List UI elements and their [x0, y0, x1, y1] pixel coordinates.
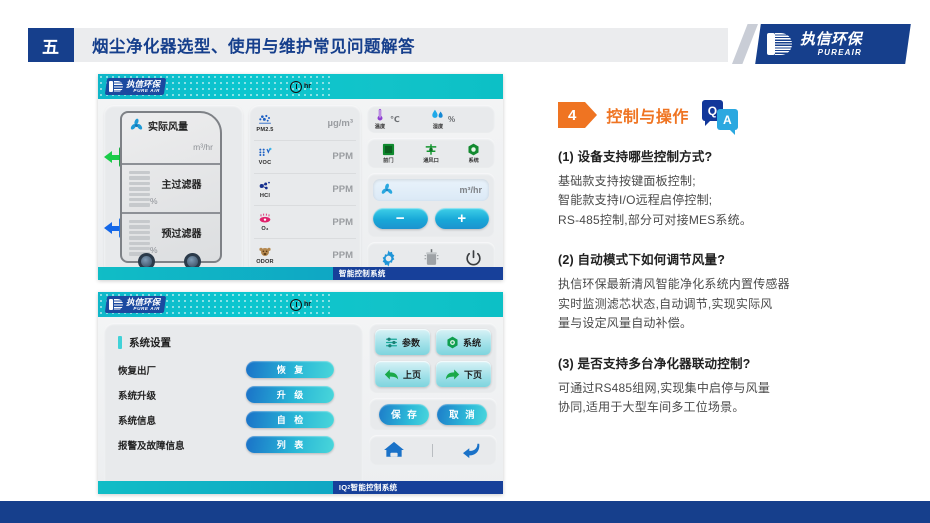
purge-button[interactable]	[410, 248, 453, 268]
brand-name-en: PUREAIR	[800, 49, 862, 57]
hmi1-topbar: 执信环保 PURE AIR hr	[98, 74, 503, 99]
next-page-button[interactable]: 下页	[436, 361, 491, 387]
alarm-list-button[interactable]: 列 表	[246, 436, 334, 453]
vent-status: 通风口	[410, 143, 453, 164]
next-page-label: 下页	[464, 368, 482, 381]
purge-icon	[422, 248, 441, 268]
qa-answer-line: 量与设定风量自动补偿。	[558, 314, 918, 333]
qa-question: (2) 自动模式下如何调节风量?	[558, 249, 918, 268]
setting-label: 报警及故障信息	[118, 438, 246, 452]
slide-page: 五 烟尘净化器选型、使用与维护常见问题解答 执信环保 PUREAIR 执信环保 …	[0, 0, 930, 523]
home-back-card	[369, 435, 497, 465]
qa-answer: 执信环保最新清风智能净化系统内置传感器 实时监测滤芯状态,自动调节,实现实际风 …	[558, 275, 918, 333]
hmi2-right-column: 参数 系统 上页	[369, 323, 497, 488]
answer-bubble-icon: A	[717, 109, 738, 130]
qa-answer-line: 基础款支持按键面板控制;	[558, 172, 918, 191]
hmi-screen-settings: 执信环保 PURE AIR hr 系统设置 恢复出厂 恢 复	[98, 292, 503, 494]
hmi1-right-column: 温度 ℃ 湿度 %	[367, 105, 495, 274]
prev-page-button[interactable]: 上页	[375, 361, 430, 387]
qa-bubble-icon: Q A	[702, 100, 742, 130]
hmi1-body: 实际风量 m³/hr 主过滤器 %	[98, 99, 503, 280]
hmi2-topbar: 执信环保 PURE AIR hr	[98, 292, 503, 317]
gear-icon	[379, 249, 398, 268]
sensor-row: VOC PPM	[254, 141, 356, 174]
power-button[interactable]	[452, 249, 495, 268]
qa-answer: 基础款支持按键面板控制; 智能款支持I/O远程启停控制; RS-485控制,部分…	[558, 172, 918, 230]
clock-icon	[290, 81, 302, 93]
qa-block: (1) 设备支持哪些控制方式? 基础款支持按键面板控制; 智能款支持I/O远程启…	[558, 146, 918, 230]
temperature-label: 温度	[375, 123, 385, 130]
qa-heading-title: 控制与操作	[606, 103, 689, 127]
qa-content-column: 4 控制与操作 Q A (1) 设备支持哪些控制方式? 基础款支持按键面板控制;…	[558, 100, 918, 437]
setting-label: 恢复出厂	[118, 363, 246, 377]
settings-button[interactable]	[367, 249, 410, 268]
settings-panel-title: 系统设置	[118, 335, 349, 350]
slide-bottom-bar	[0, 501, 930, 523]
sensor-tag: HCl	[260, 193, 270, 199]
system-label: 系统	[463, 336, 481, 349]
setting-row-system-info: 系统信息 自 检	[118, 411, 349, 428]
arrow-left-icon	[384, 368, 399, 381]
machine-diagram-card: 实际风量 m³/hr 主过滤器 %	[104, 105, 243, 274]
filter-bars-icon	[129, 170, 150, 212]
setting-row-factory-reset: 恢复出厂 恢 复	[118, 361, 349, 378]
back-arrow-icon	[461, 441, 483, 459]
airflow-control-unit: m³/hr	[394, 185, 482, 195]
parameters-button[interactable]: 参数	[375, 329, 430, 355]
vent-label: 通风口	[423, 157, 439, 164]
qa-answer: 可通过RS485组网,实现集中启停与风量 协同,适用于大型车间多工位场景。	[558, 379, 918, 418]
sensor-tag: PM2.5	[256, 127, 273, 133]
qa-answer-line: 实时监测滤芯状态,自动调节,实现实际风	[558, 295, 918, 314]
setting-label: 系统升级	[118, 388, 246, 402]
qa-number-badge: 4	[558, 102, 585, 128]
page-title: 烟尘净化器选型、使用与维护常见问题解答	[92, 33, 415, 57]
sensor-row: O₃ PPM	[254, 206, 356, 239]
qa-question: (3) 是否支持多台净化器联动控制?	[558, 353, 918, 372]
plus-icon: +	[457, 211, 466, 226]
qa-answer-line: RS-485控制,部分可对接MES系统。	[558, 211, 918, 230]
qa-question: (1) 设备支持哪些控制方式?	[558, 146, 918, 165]
sensor-tag: VOC	[259, 160, 272, 166]
power-icon	[464, 249, 483, 268]
hmi-screen-main: 执信环保 PURE AIR hr	[98, 74, 503, 280]
temperature-readout: 温度 ℃	[373, 108, 431, 130]
hmi1-status-bar: 智能控制系统	[98, 267, 503, 280]
sliders-icon	[385, 336, 398, 349]
main-filter-section: 主过滤器 %	[122, 163, 220, 212]
sensor-unit: PPM	[281, 217, 356, 228]
sensor-row: HCl PPM	[254, 174, 356, 207]
section-title-band: 烟尘净化器选型、使用与维护常见问题解答	[74, 28, 728, 62]
sensor-unit: PPM	[281, 184, 356, 195]
minus-icon: −	[396, 211, 405, 226]
humidity-label: 湿度	[433, 123, 443, 130]
save-cancel-card: 保 存 取 消	[369, 398, 497, 430]
humidity-readout: 湿度 %	[431, 108, 489, 130]
arrow-right-icon	[445, 368, 460, 381]
fan-icon	[129, 118, 144, 133]
navigation-card: 参数 系统 上页	[369, 323, 497, 393]
pm25-icon: PM2.5	[254, 114, 276, 133]
humidity-icon: 湿度	[431, 108, 445, 130]
brand-swoosh-decoration	[732, 24, 758, 64]
setting-row-alarm-info: 报警及故障信息 列 表	[118, 436, 349, 453]
sensor-tag: O₃	[261, 226, 268, 232]
front-door-icon	[382, 143, 395, 156]
setting-label: 系统信息	[118, 413, 246, 427]
settings-title-text: 系统设置	[129, 335, 171, 350]
home-icon	[383, 441, 405, 459]
hmi2-clock-unit: hr	[304, 301, 311, 308]
qa-heading: 4 控制与操作 Q A	[558, 100, 918, 130]
qa-answer-line: 智能款支持I/O远程启停控制;	[558, 191, 918, 210]
airflow-decrease-button[interactable]: −	[373, 208, 428, 229]
system-hex-icon	[446, 336, 459, 349]
odor-icon: ODOR	[254, 246, 276, 265]
pre-filter-label: 预过滤器	[150, 225, 213, 240]
front-door-label: 前门	[383, 157, 393, 164]
sensor-unit: PPM	[281, 250, 356, 261]
brand-name-cn: 执信环保	[800, 32, 862, 47]
hmi1-runtime-clock: hr	[98, 74, 503, 99]
divider	[432, 444, 433, 457]
airflow-unit: m³/hr	[129, 142, 213, 152]
pre-filter-section: 预过滤器 %	[122, 212, 220, 261]
self-check-button[interactable]: 自 检	[246, 411, 334, 428]
thermometer-icon: 温度	[373, 108, 387, 130]
system-button[interactable]: 系统	[436, 329, 491, 355]
brand-logo: 执信环保 PUREAIR	[755, 24, 911, 64]
hcl-icon: HCl	[254, 180, 276, 199]
temperature-unit: ℃	[390, 115, 400, 124]
qa-block: (2) 自动模式下如何调节风量? 执信环保最新清风智能净化系统内置传感器 实时监…	[558, 249, 918, 333]
humidity-unit: %	[448, 115, 455, 124]
qa-answer-line: 执信环保最新清风智能净化系统内置传感器	[558, 275, 918, 294]
section-header: 五 烟尘净化器选型、使用与维护常见问题解答	[28, 28, 728, 62]
airflow-section: 实际风量 m³/hr	[122, 113, 220, 163]
sensor-tag: ODOR	[256, 259, 274, 265]
vent-icon	[424, 143, 438, 156]
airflow-label: 实际风量	[148, 118, 188, 133]
fan-icon	[380, 183, 394, 197]
qa-answer-line: 可通过RS485组网,实现集中启停与风量	[558, 379, 918, 398]
save-button[interactable]: 保 存	[379, 404, 429, 425]
hmi1-status-left	[98, 267, 333, 280]
hmi2-body: 系统设置 恢复出厂 恢 复 系统升级 升 级 系统信息 自 检 报警及故障信息 …	[98, 317, 503, 494]
clock-icon	[290, 299, 302, 311]
hmi1-clock-unit: hr	[304, 83, 311, 90]
qa-block: (3) 是否支持多台净化器联动控制? 可通过RS485组网,实现集中启停与风量 …	[558, 353, 918, 418]
qa-answer-line: 协同,适用于大型车间多工位场景。	[558, 398, 918, 417]
back-button[interactable]	[461, 441, 483, 459]
title-tick-decoration	[118, 336, 122, 349]
airflow-control-card: m³/hr − +	[367, 173, 495, 237]
main-filter-label: 主过滤器	[150, 176, 213, 191]
front-door-status: 前门	[367, 143, 410, 164]
sensor-row: PM2.5 µg/m³	[254, 108, 356, 141]
hmi2-status-left	[98, 481, 333, 494]
cancel-button[interactable]: 取 消	[437, 404, 487, 425]
prev-page-label: 上页	[403, 368, 421, 381]
pureair-logo-icon	[766, 31, 794, 57]
hmi2-runtime-clock: hr	[98, 292, 503, 317]
system-status: 系统	[452, 143, 495, 164]
restore-button[interactable]: 恢 复	[246, 361, 334, 378]
system-settings-panel: 系统设置 恢复出厂 恢 复 系统升级 升 级 系统信息 自 检 报警及故障信息 …	[104, 323, 363, 488]
voc-icon: VOC	[254, 147, 276, 166]
sensor-readout-list: PM2.5 µg/m³ VOC PPM	[249, 105, 361, 274]
environment-card: 温度 ℃ 湿度 %	[367, 105, 495, 133]
system-icon	[467, 143, 480, 156]
parameters-label: 参数	[402, 336, 420, 349]
main-filter-unit: %	[150, 196, 158, 206]
hmi2-status-text: IQ2智能控制系统	[333, 481, 503, 494]
hmi2-status-label: 智能控制系统	[351, 482, 398, 493]
setting-row-upgrade: 系统升级 升 级	[118, 386, 349, 403]
sensor-unit: µg/m³	[281, 118, 356, 129]
o3-icon: O₃	[254, 213, 276, 232]
airflow-increase-button[interactable]: +	[435, 208, 490, 229]
hmi2-status-bar: IQ2智能控制系统	[98, 481, 503, 494]
upgrade-button[interactable]: 升 级	[246, 386, 334, 403]
sensor-unit: PPM	[281, 151, 356, 162]
system-label: 系统	[468, 157, 478, 164]
hmi2-status-prefix: IQ	[339, 483, 348, 492]
hmi1-status-text: 智能控制系统	[333, 267, 503, 280]
section-number: 五	[28, 28, 74, 62]
airflow-value-display[interactable]: m³/hr	[373, 179, 489, 201]
io-status-card: 前门 通风口 系统	[367, 138, 495, 168]
home-button[interactable]	[383, 441, 405, 459]
machine-body: 实际风量 m³/hr 主过滤器 %	[120, 111, 222, 263]
